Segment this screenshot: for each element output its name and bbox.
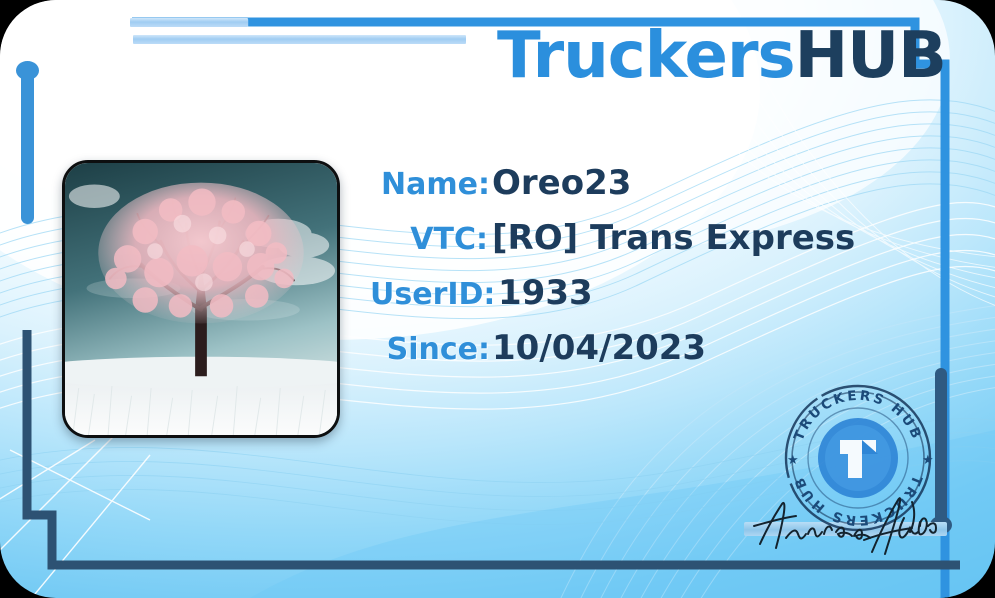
truckershub-logo-icon: TruckersHUB [497,24,946,88]
field-value-since: 10/04/2023 [492,328,706,368]
field-row-vtc: VTC: [RO] Trans Express [370,218,930,273]
driver-info-fields: Name: Oreo23 VTC: [RO] Trans Express Use… [370,163,930,383]
stamp-separator-right: ★ [922,453,934,468]
field-value-userid: 1933 [498,273,593,313]
decor-bar-top-1 [130,18,248,27]
field-row-since: Since: 10/04/2023 [370,328,930,383]
stamp-separator-left: ★ [787,453,799,468]
decor-pin-left [21,64,34,224]
avatar [62,160,340,438]
signature-icon [752,482,952,564]
decor-bar-top-2 [133,35,466,44]
field-value-vtc: [RO] Trans Express [492,218,855,258]
field-label-name: Name: [370,167,490,202]
field-row-userid: UserID: 1933 [370,273,930,328]
logo-text-secondary: HUB [795,19,946,93]
field-value-name: Oreo23 [492,163,631,203]
field-label-since: Since: [370,332,490,367]
avatar-photo-icon [65,163,337,435]
field-row-name: Name: Oreo23 [370,163,930,218]
field-label-vtc: VTC: [370,222,490,257]
driver-id-card: TruckersHUB Name: Oreo23 VTC: [RO] Trans… [0,0,995,598]
field-label-userid: UserID: [370,277,490,312]
logo-text-primary: Truckers [497,19,795,93]
